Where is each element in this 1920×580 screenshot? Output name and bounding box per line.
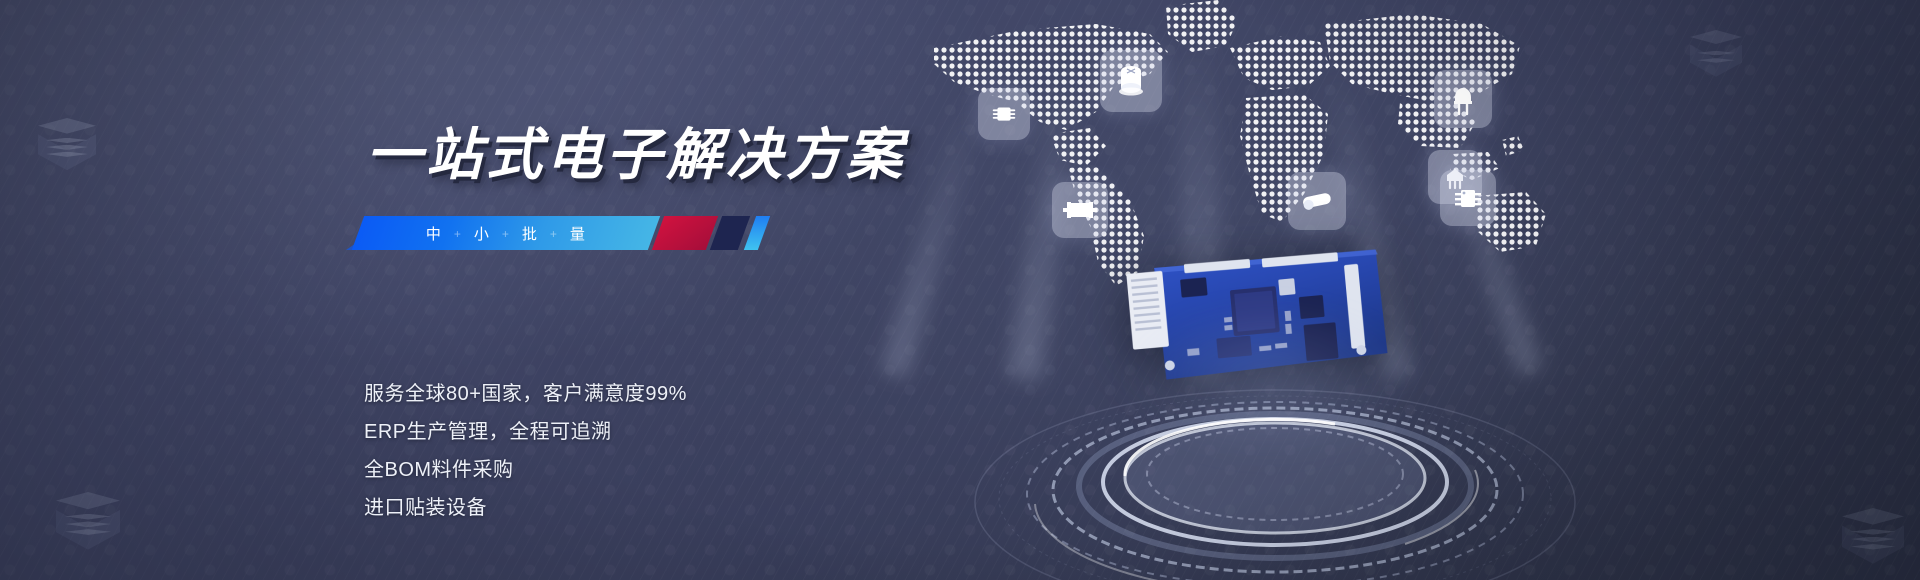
feature-item-2: ERP生产管理，全程可追溯 <box>364 413 687 451</box>
capacitor-icon <box>1114 62 1148 100</box>
ribbon-item-2: 小 <box>474 223 490 244</box>
platform-glow <box>1120 300 1420 460</box>
transistor-icon <box>1439 161 1471 193</box>
transistor-icon-badge <box>1428 150 1482 204</box>
hex-pattern-background <box>0 0 1920 580</box>
led-icon <box>1448 81 1478 117</box>
vignette-overlay <box>0 0 1920 580</box>
resistor-icon <box>1063 198 1097 222</box>
iso-box-decoration-bottom-left <box>56 492 120 556</box>
diagonal-lines-background <box>0 0 1920 580</box>
dotted-world-map <box>900 0 1560 290</box>
page-title: 一站式电子解决方案 <box>366 110 906 191</box>
ribbon-separator-2: + <box>502 226 510 240</box>
feature-item-1: 服务全球80+国家，客户满意度99% <box>364 375 687 413</box>
ic-chip-icon-badge <box>978 88 1030 140</box>
ribbon-item-3: 批 <box>522 223 538 244</box>
tagline-ribbon: 中 + 小 + 批 + 量 <box>358 216 788 250</box>
ribbon-main-bar: 中 + 小 + 批 + 量 <box>352 216 660 250</box>
iso-box-decoration-top-right <box>1690 30 1742 82</box>
pcb-board-image <box>1126 245 1393 387</box>
ribbon-accent-red <box>652 216 718 250</box>
ribbon-separator-3: + <box>550 226 558 240</box>
hud-circular-platform <box>955 368 1595 580</box>
chip-smd-icon <box>1452 182 1484 214</box>
ribbon-item-4: 量 <box>570 223 586 244</box>
feature-item-4: 进口贴装设备 <box>364 489 687 527</box>
light-beams <box>880 40 1640 400</box>
feature-item-3: 全BOM料件采购 <box>364 451 687 489</box>
feature-list: 服务全球80+国家，客户满意度99% ERP生产管理，全程可追溯 全BOM料件采… <box>364 375 687 527</box>
ribbon-item-1: 中 <box>426 223 442 244</box>
iso-box-decoration-bottom-right <box>1842 508 1904 570</box>
ribbon-separator-1: + <box>454 226 462 240</box>
chip-smd-icon-badge <box>1440 170 1496 226</box>
led-icon-badge <box>1434 70 1492 128</box>
resistor-icon-badge <box>1052 182 1108 238</box>
hero-banner: 一站式电子解决方案 中 + 小 + 批 + 量 服务全球80+国家，客户满意度9… <box>0 0 1920 580</box>
ic-chip-icon <box>989 99 1019 129</box>
crystal-icon <box>1299 190 1335 212</box>
iso-box-decoration-left <box>38 118 96 176</box>
crystal-icon-badge <box>1288 172 1346 230</box>
capacitor-icon-badge <box>1100 50 1162 112</box>
